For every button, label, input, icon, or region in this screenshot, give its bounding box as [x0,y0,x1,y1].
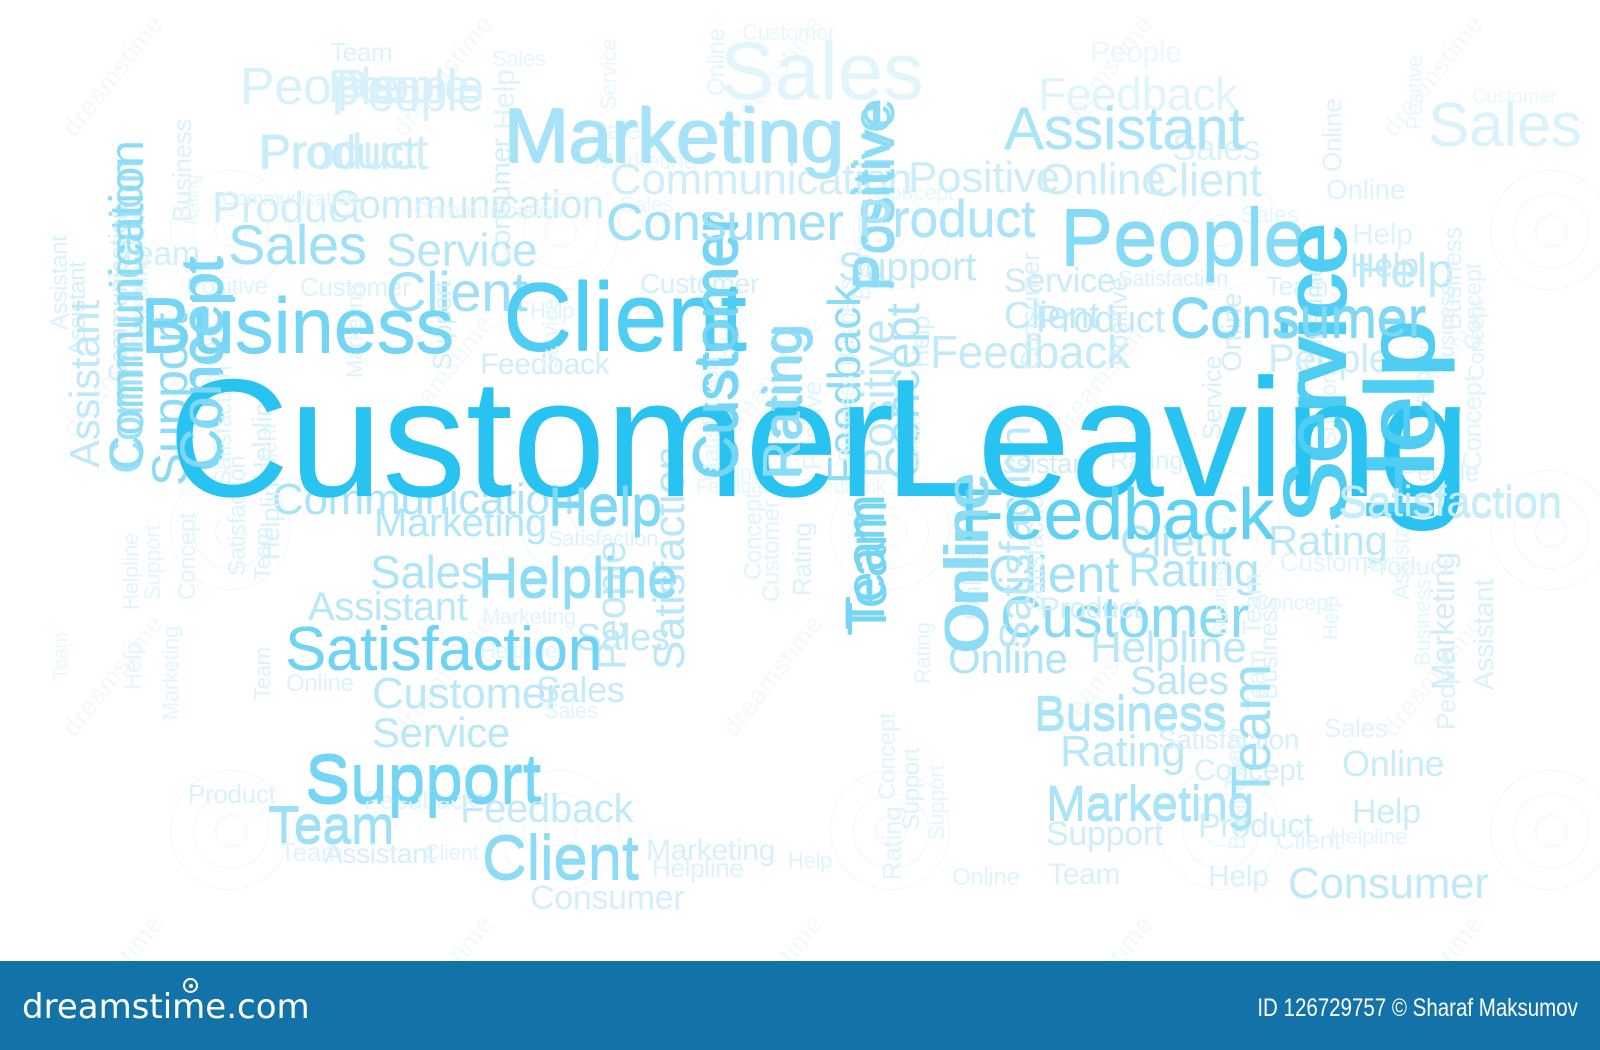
cloud-word: Product [188,782,276,807]
cloud-word: Help [548,480,662,535]
cloud-word: Rating [880,807,905,880]
cloud-word: Assistant [64,300,105,468]
dreamstime-logo-text: dreamstime.com [22,987,310,1027]
cloud-word: Communication [104,140,151,470]
cloud-word: Marketing [505,98,845,174]
cloud-word: Satisfaction [285,620,602,681]
cloud-word: Business [1034,690,1226,737]
cloud-word: Team [1048,860,1120,889]
cloud-word: Helpline [120,533,142,610]
cloud-word: Team [838,494,893,630]
cloud-word: Rating [912,622,934,684]
cloud-word: Assistant [1470,579,1497,690]
cloud-word: Business [1412,579,1434,666]
cloud-word: Online [1342,746,1444,781]
cloud-word: Online [705,28,729,96]
cloud-word: Team [268,800,394,851]
cloud-word: Help [788,850,832,872]
cloud-word: Sales [544,700,598,722]
cloud-word: Help [1208,862,1269,891]
cloud-word: Online [1326,176,1405,203]
cloud-word: Consumer [606,198,843,249]
cloud-word: Sales [228,218,367,273]
cloud-word: Sales [1428,96,1582,157]
cloud-word: Satisfaction [1338,480,1562,523]
cloud-word: Concept [174,256,231,470]
cloud-word: Helpline [478,550,678,605]
cloud-word: Business [1212,557,1232,636]
spiral-icon [183,978,198,993]
cloud-word: Team [252,647,274,700]
cloud-word: Feedback [960,480,1274,551]
cloud-word: Support [926,765,948,840]
cloud-word: Help [122,642,146,690]
cloud-word: Rating [756,326,809,480]
cloud-word: Concept [876,713,900,800]
cloud-word: Support [142,525,164,600]
cloud-word: Online [952,866,1020,890]
cloud-word: Product [260,130,416,175]
word-cloud-canvas: TeamPeopleSalesCustomerSalesFeedbackPeop… [0,0,1600,961]
cloud-word: Rating [184,175,202,225]
cloud-word: Product [858,194,1035,245]
word-cloud-image: dreamstimedreamstimedreamstimedreamstime… [0,0,1600,1050]
cloud-word: Rating [790,523,815,596]
cloud-word: Help [1320,596,1342,640]
cloud-word: Online [1320,99,1345,172]
cloud-word: Consumer [1288,862,1489,905]
cloud-word: Sales [1324,716,1388,741]
cloud-word: Sales [492,48,546,70]
cloud-word: Marketing [1046,780,1254,827]
cloud-word: Client [482,828,639,889]
cloud-word: Marketing [160,626,182,720]
cloud-word: Client [1276,828,1341,853]
cloud-word: Team [52,632,72,680]
cloud-word: Helpline [652,856,744,881]
cloud-word: Helpline [1330,826,1407,848]
cloud-word: Client [424,842,478,864]
cloud-word: Customer [686,214,747,480]
cloud-word: Consumer [1170,290,1426,345]
cloud-word: Positive [1404,55,1426,130]
cloud-word: Assistant [1004,100,1245,159]
footer-bar: dreamstime.com ID 126729757 © Sharaf Mak… [0,961,1600,1050]
cloud-word: Product [1040,594,1141,623]
cloud-word: Online [938,473,999,650]
image-credit: ID 126729757 © Sharaf Maksumov [1257,994,1578,1023]
cloud-word: Service [1272,222,1360,520]
cloud-word: People [1434,651,1459,730]
dreamstime-logo[interactable]: dreamstime.com [22,987,310,1027]
cloud-word: People [1090,38,1182,67]
cloud-word: Communication [222,190,357,210]
cloud-word: People [336,72,484,119]
